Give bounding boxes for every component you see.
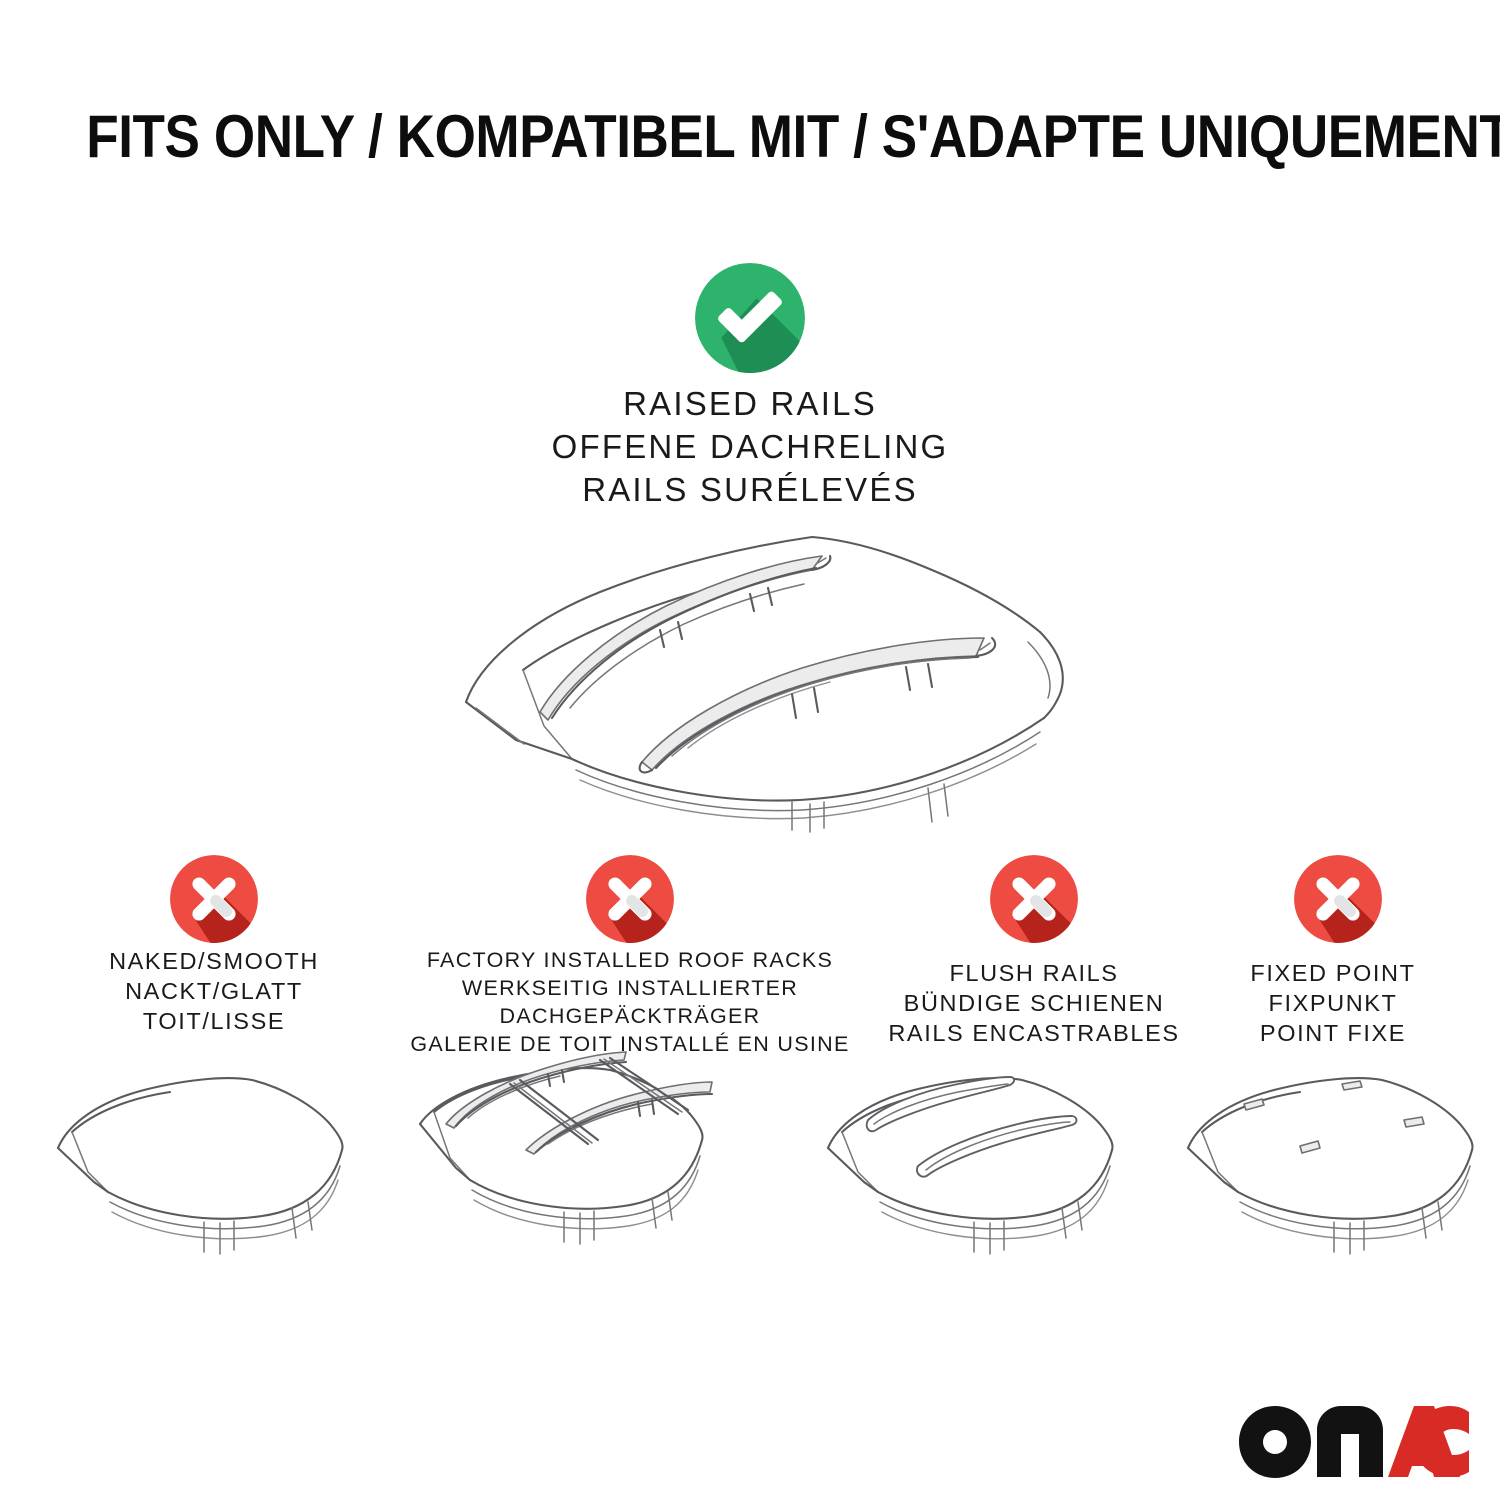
car-roof-raised-rails-illustration [420,512,1110,832]
caption-line: RAILS ENCASTRABLES [854,1018,1214,1048]
caption-line: RAISED RAILS [350,382,1150,425]
page-title: FITS ONLY / KOMPATIBEL MIT / S'ADAPTE UN… [86,104,1414,170]
caption-line: WERKSEITIG INSTALLIERTER [398,974,862,1002]
car-roof-fixed-point-illustration [1182,1062,1500,1292]
caption-line: NAKED/SMOOTH [24,946,404,976]
incompatible-caption-factory-roof-racks: FACTORY INSTALLED ROOF RACKS WERKSEITIG … [398,946,862,1058]
caption-line: TOIT/LISSE [24,1006,404,1036]
compatible-caption: RAISED RAILS OFFENE DACHRELING RAILS SUR… [350,382,1150,511]
caption-line: RAILS SURÉLEVÉS [350,468,1150,511]
car-roof-factory-roof-racks-illustration [412,1058,762,1292]
incompatible-caption-flush-rails: FLUSH RAILS BÜNDIGE SCHIENEN RAILS ENCAS… [854,958,1214,1048]
caption-line: FIXED POINT [1168,958,1498,988]
caption-line: BÜNDIGE SCHIENEN [854,988,1214,1018]
omac-logo-o [1239,1406,1311,1478]
compatibility-infographic: FITS ONLY / KOMPATIBEL MIT / S'ADAPTE UN… [0,0,1500,1500]
caption-line: OFFENE DACHRELING [350,425,1150,468]
caption-line: NACKT/GLATT [24,976,404,1006]
omac-logo-m [1317,1406,1383,1477]
incompatible-caption-fixed-point: FIXED POINT FIXPUNKT POINT FIXE [1168,958,1498,1048]
caption-line: FLUSH RAILS [854,958,1214,988]
caption-line: POINT FIXE [1168,1018,1498,1048]
cross-circle-icon [990,855,1078,943]
caption-line: DACHGEPÄCKTRÄGER [398,1002,862,1030]
car-roof-naked-smooth-illustration [52,1062,392,1292]
caption-line: FIXPUNKT [1168,988,1498,1018]
cross-circle-icon [1294,855,1382,943]
car-roof-flush-rails-illustration [822,1062,1162,1292]
caption-line: FACTORY INSTALLED ROOF RACKS [398,946,862,974]
cross-circle-icon [586,855,674,943]
omac-logo [1238,1404,1470,1478]
caption-line: GALERIE DE TOIT INSTALLÉ EN USINE [398,1030,862,1058]
incompatible-caption-naked-smooth: NAKED/SMOOTH NACKT/GLATT TOIT/LISSE [24,946,404,1036]
check-circle-icon [695,263,805,373]
cross-circle-icon [170,855,258,943]
